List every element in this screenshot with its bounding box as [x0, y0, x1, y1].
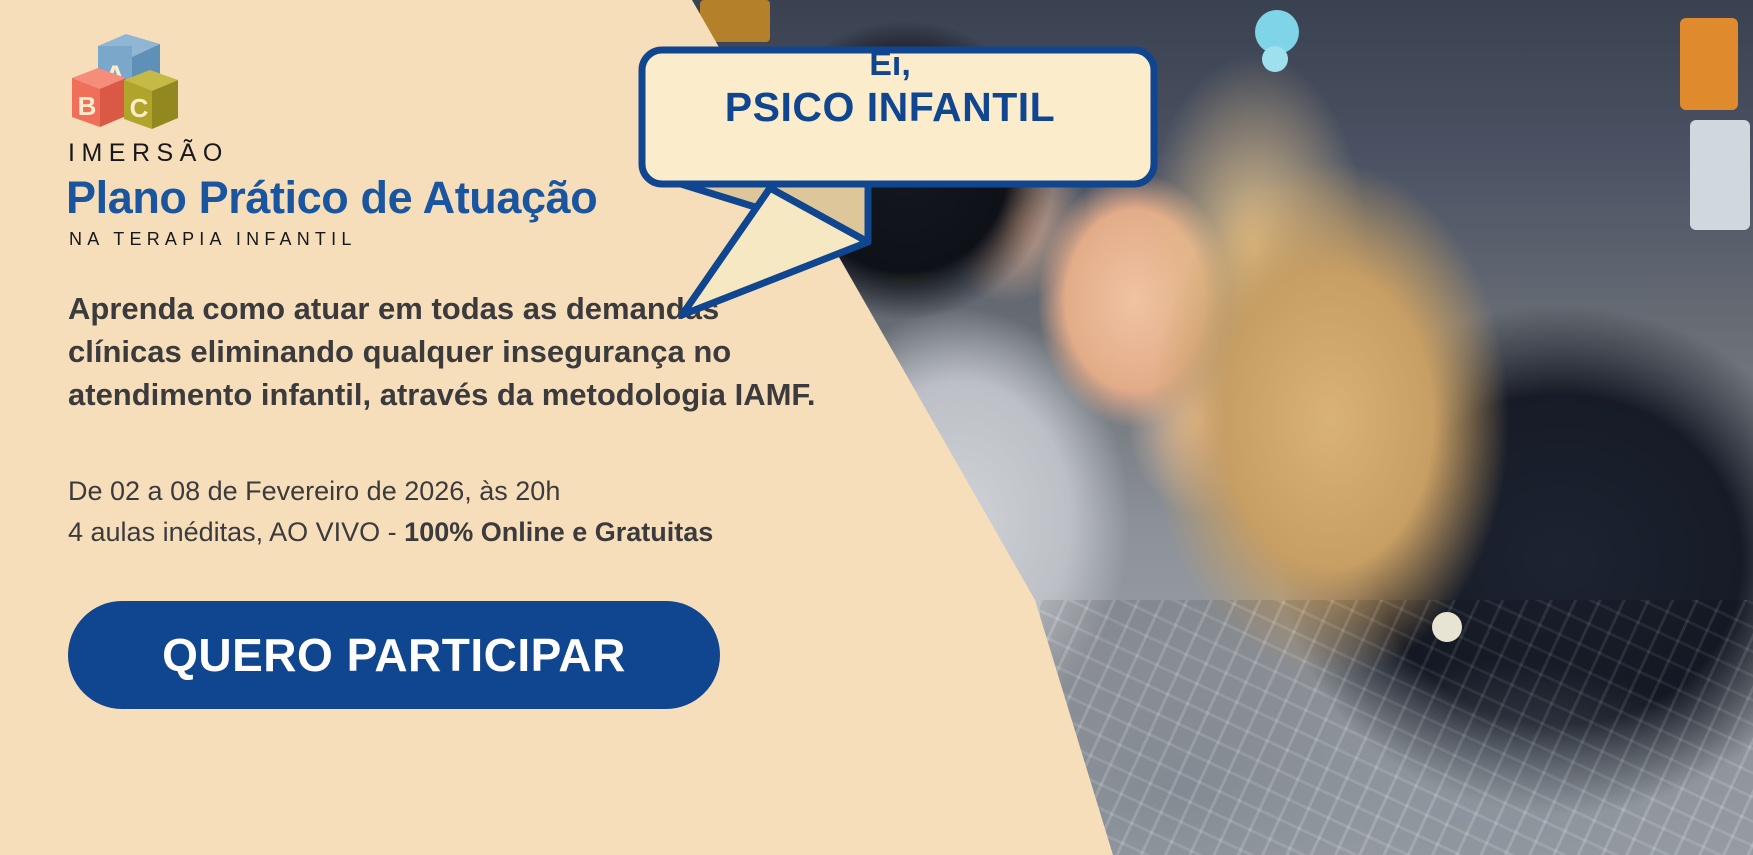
abc-blocks-logo: A B C [68, 28, 188, 132]
background-orange-object [1680, 18, 1738, 110]
floor-grid [1040, 600, 1753, 855]
logo-block-b: B [72, 68, 126, 127]
subkicker-terapia-infantil: NA TERAPIA INFANTIL [69, 229, 357, 250]
page-title: Plano Prático de Atuação [66, 172, 597, 224]
bubble-body [642, 50, 1154, 184]
event-format-prefix: 4 aulas inéditas, AO VIVO - [68, 517, 404, 547]
svg-text:C: C [130, 93, 149, 123]
logo-block-c: C [124, 70, 178, 129]
hair-clip-secondary-icon [1262, 46, 1288, 72]
kicker-imersao: IMERSÃO [68, 139, 229, 168]
shirt-flower-detail [1432, 612, 1462, 642]
event-format-line: 4 aulas inéditas, AO VIVO - 100% Online … [68, 512, 928, 553]
event-format-highlight: 100% Online e Gratuitas [404, 517, 713, 547]
event-details: De 02 a 08 de Fevereiro de 2026, às 20h … [68, 471, 928, 553]
background-white-object [1690, 120, 1750, 230]
speech-bubble: Ei, PSICO INFANTIL [620, 10, 1160, 330]
svg-text:B: B [78, 91, 97, 121]
quero-participar-button[interactable]: QUERO PARTICIPAR [68, 601, 720, 709]
event-date-line: De 02 a 08 de Fevereiro de 2026, às 20h [68, 471, 928, 512]
promo-banner: A B C IMERSÃO Plano Prático de Atuação N… [0, 0, 1753, 855]
